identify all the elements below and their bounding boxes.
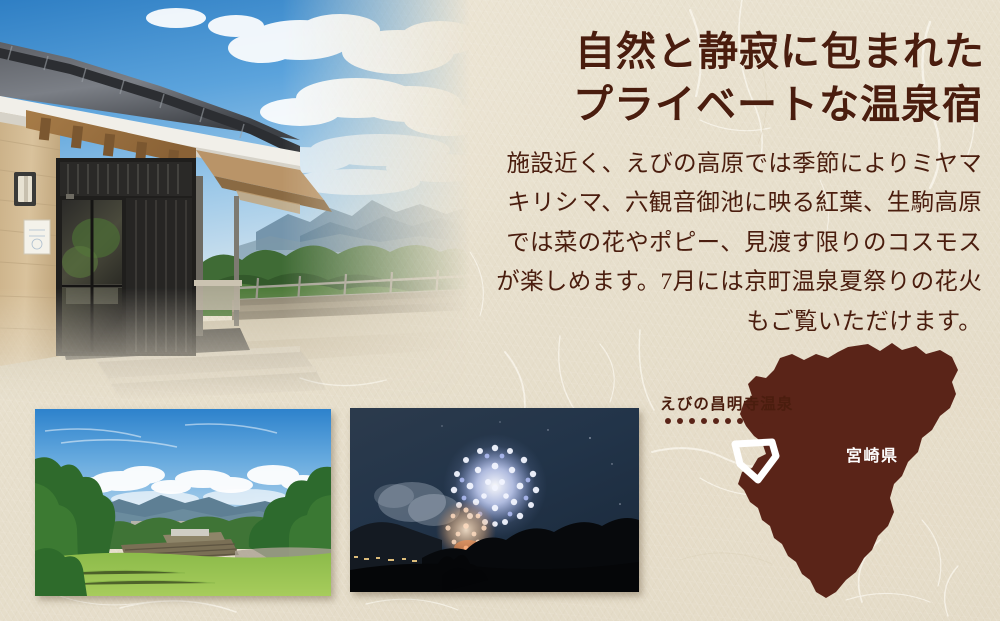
page-title: 自然と静寂に包まれた プライベートな温泉宿 <box>455 26 985 132</box>
miyazaki-map <box>640 330 1000 621</box>
hero-photo-ryokan-entrance <box>0 0 470 400</box>
thumbnail-photo-fireworks <box>350 408 639 592</box>
body-line-3: では菜の花やポピー、見渡す限りのコスモス <box>452 224 982 263</box>
map-callout-label: えびの昌明寺温泉 <box>660 392 794 414</box>
body-line-2: キリシマ、六観音御池に映る紅葉、生駒高原 <box>452 184 982 223</box>
headline-line-2: プライベートな温泉宿 <box>455 79 985 132</box>
thumbnail-photo-landscape <box>35 409 331 596</box>
body-description: 施設近く、えびの高原では季節によりミヤマ キリシマ、六観音御池に映る紅葉、生駒高… <box>452 145 982 342</box>
body-line-4: が楽しめます。7月には京町温泉夏祭りの花火 <box>452 263 982 302</box>
prefecture-shape <box>738 343 958 598</box>
poster-canvas: 自然と静寂に包まれた プライベートな温泉宿 施設近く、えびの高原では季節によりミ… <box>0 0 1000 621</box>
map-prefecture-label: 宮崎県 <box>846 442 899 466</box>
headline-line-1: 自然と静寂に包まれた <box>455 26 985 79</box>
body-line-1: 施設近く、えびの高原では季節によりミヤマ <box>452 145 982 184</box>
